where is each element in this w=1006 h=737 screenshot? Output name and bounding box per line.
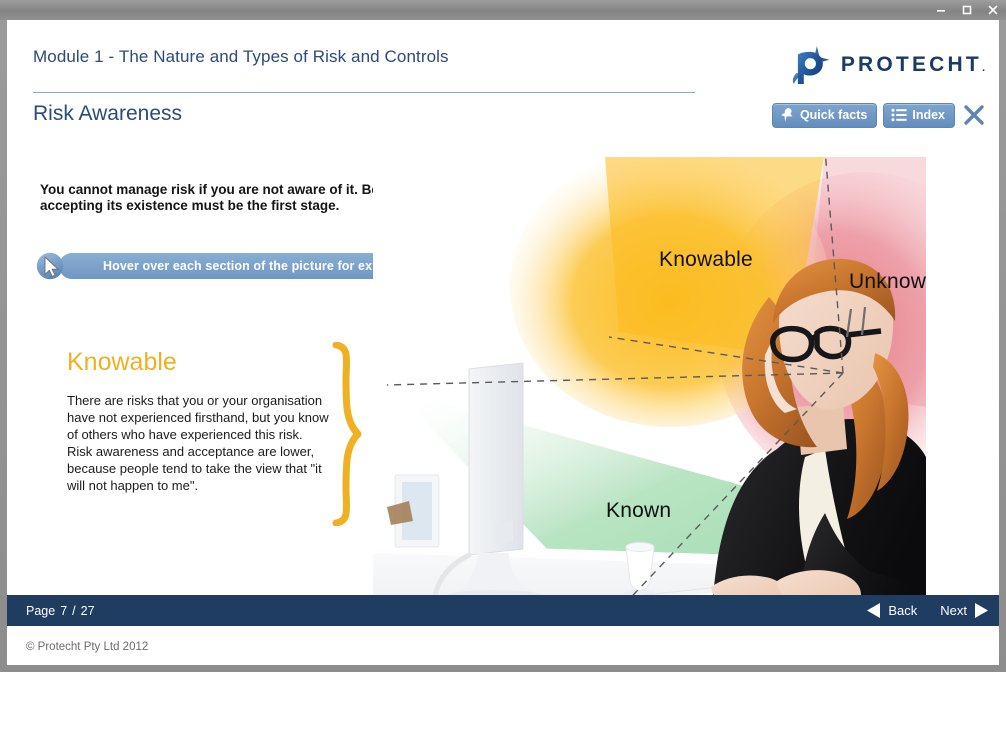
risk-awareness-diagram[interactable]: Knowable Unknowable Known <box>373 157 926 621</box>
logo-registered-mark: . <box>982 62 985 74</box>
module-title: Module 1 - The Nature and Types of Risk … <box>33 47 449 67</box>
lesson-content-sheet: Module 1 - The Nature and Types of Risk … <box>7 20 999 665</box>
minimize-button[interactable] <box>928 0 954 20</box>
lesson-toolbar: Quick facts Index <box>772 102 987 128</box>
close-window-button[interactable] <box>980 0 1006 20</box>
page-word: Page <box>26 604 55 618</box>
quick-facts-button[interactable]: Quick facts <box>772 103 877 128</box>
quick-facts-label: Quick facts <box>800 108 867 122</box>
logo-word-text: PROTECHT <box>841 53 982 76</box>
pushpin-icon <box>780 107 795 123</box>
close-icon <box>962 103 986 127</box>
curly-brace-icon <box>327 342 367 526</box>
list-icon <box>891 108 907 122</box>
current-page: 7 <box>60 604 67 618</box>
maximize-button[interactable] <box>954 0 980 20</box>
zone-label-known[interactable]: Known <box>606 499 671 523</box>
close-lesson-button[interactable] <box>961 102 987 128</box>
next-button[interactable]: Next <box>940 602 989 619</box>
protecht-logo: PROTECHT. <box>790 44 985 86</box>
total-pages: 27 <box>81 604 95 618</box>
explanation-heading: Knowable <box>67 348 177 377</box>
zone-label-knowable[interactable]: Knowable <box>659 248 753 272</box>
window-title-bar <box>0 0 1006 20</box>
header-divider <box>33 92 695 93</box>
page-title: Risk Awareness <box>33 102 182 126</box>
next-label: Next <box>940 603 967 618</box>
protecht-wordmark: PROTECHT. <box>841 53 985 77</box>
protecht-logo-icon <box>790 44 832 86</box>
index-label: Index <box>912 108 945 122</box>
back-button[interactable]: Back <box>866 602 917 619</box>
navigation-buttons: Back Next <box>866 602 989 619</box>
footer-navigation-bar: Page 7 / 27 Back Next <box>7 595 999 626</box>
page-indicator: Page 7 / 27 <box>26 604 95 618</box>
explanation-body: There are risks that you or your organis… <box>67 392 329 494</box>
copyright-notice: © Protecht Pty Ltd 2012 <box>26 641 148 653</box>
arrow-right-icon <box>974 602 989 619</box>
index-button[interactable]: Index <box>883 103 955 128</box>
back-label: Back <box>888 603 917 618</box>
application-window: Module 1 - The Nature and Types of Risk … <box>0 0 1006 672</box>
zone-label-unknowable[interactable]: Unknowable <box>849 270 926 294</box>
arrow-left-icon <box>866 602 881 619</box>
cursor-icon <box>35 252 69 280</box>
page-separator: / <box>72 604 75 618</box>
